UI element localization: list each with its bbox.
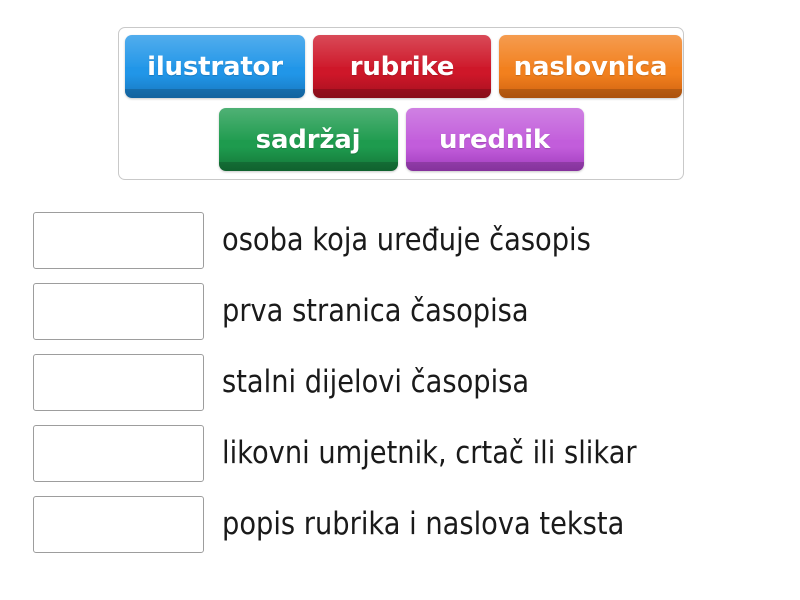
tile-row-2: sadržaj urednik (119, 108, 683, 171)
answer-row: osoba koja uređuje časopis (33, 212, 785, 269)
answer-row: popis rubrika i naslova teksta (33, 496, 785, 553)
definition-text-5: popis rubrika i naslova teksta (222, 508, 624, 541)
answer-row: stalni dijelovi časopisa (33, 354, 785, 411)
tile-label: sadržaj (256, 127, 361, 153)
draggable-tile-naslovnica[interactable]: naslovnica (499, 35, 682, 98)
tile-label: ilustrator (147, 54, 283, 80)
definition-text-4: likovni umjetnik, crtač ili slikar (222, 437, 637, 470)
definition-text-2: prva stranica časopisa (222, 295, 529, 328)
drop-slot-4[interactable] (33, 425, 204, 482)
draggable-tile-urednik[interactable]: urednik (406, 108, 584, 171)
draggable-tile-rubrike[interactable]: rubrike (313, 35, 491, 98)
answer-list: osoba koja uređuje časopis prva stranica… (33, 212, 785, 553)
draggable-tile-ilustrator[interactable]: ilustrator (125, 35, 305, 98)
drop-slot-1[interactable] (33, 212, 204, 269)
answer-row: prva stranica časopisa (33, 283, 785, 340)
drop-slot-2[interactable] (33, 283, 204, 340)
definition-text-3: stalni dijelovi časopisa (222, 366, 529, 399)
definition-text-1: osoba koja uređuje časopis (222, 224, 591, 257)
draggable-tile-sadrzaj[interactable]: sadržaj (219, 108, 398, 171)
tile-label: rubrike (350, 54, 455, 80)
answer-row: likovni umjetnik, crtač ili slikar (33, 425, 785, 482)
drop-slot-5[interactable] (33, 496, 204, 553)
tile-label: naslovnica (514, 54, 668, 80)
draggable-tile-tray: ilustrator rubrike naslovnica sadržaj ur… (118, 27, 684, 180)
tile-row-1: ilustrator rubrike naslovnica (119, 35, 683, 98)
tile-label: urednik (439, 127, 550, 153)
drop-slot-3[interactable] (33, 354, 204, 411)
